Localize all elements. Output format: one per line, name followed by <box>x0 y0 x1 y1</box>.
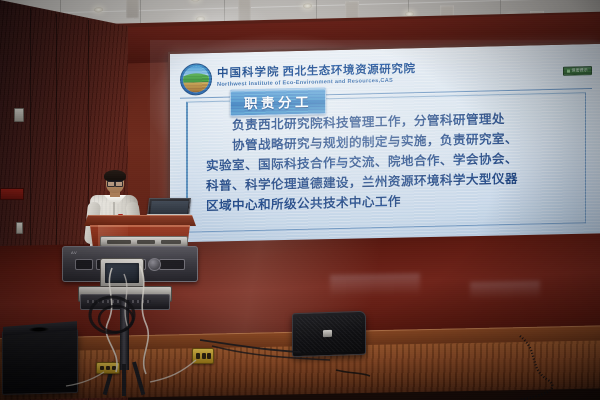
eyeglasses-icon <box>107 180 123 185</box>
ceiling-panel-light <box>238 0 251 22</box>
power-strip[interactable] <box>96 362 120 374</box>
rack-label: AV <box>71 250 77 255</box>
photo-scene: 中国科学院西北生态环境资源研究院 Northwest Institute of … <box>0 0 600 400</box>
wall-mounted-device <box>14 108 24 122</box>
tripod-leg <box>122 364 126 396</box>
downlight <box>191 0 200 2</box>
power-strip[interactable] <box>192 348 214 364</box>
downlight <box>303 3 312 8</box>
projection-screen: 中国科学院西北生态环境资源研究院 Northwest Institute of … <box>170 44 600 259</box>
tripod-column <box>120 300 129 370</box>
wall-switch <box>16 222 23 234</box>
exit-sign <box>0 188 24 200</box>
ceiling-panel-light <box>126 0 139 18</box>
floor-speaker-cabinet <box>2 329 78 395</box>
stage-monitor-speaker <box>292 311 366 358</box>
